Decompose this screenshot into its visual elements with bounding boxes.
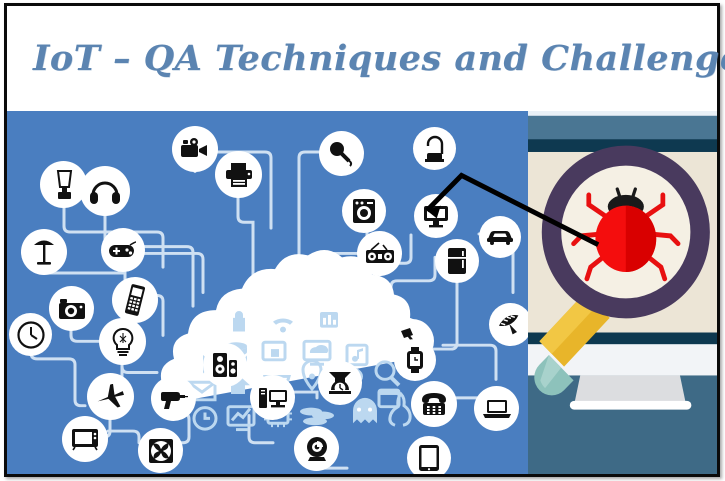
device-node-car[interactable] [479, 216, 521, 258]
device-node-webcam[interactable] [294, 426, 339, 471]
device-node-vacuum[interactable] [413, 127, 456, 170]
device-node-satellite[interactable] [489, 303, 528, 346]
iot-device-network [7, 111, 528, 474]
car-icon [486, 229, 514, 245]
boombox-radio-icon [365, 242, 395, 266]
vacuum-cleaner-icon [424, 135, 446, 163]
device-node-gamepad[interactable] [101, 228, 145, 272]
fan-icon [148, 438, 174, 464]
slide-frame: IoT – QA Techniques and Challenges [4, 3, 720, 477]
monitor-top-band [528, 116, 717, 139]
device-node-mobile[interactable] [112, 277, 158, 323]
floor-lamp-icon [32, 238, 56, 266]
slide-canvas: IoT – QA Techniques and Challenges [0, 0, 725, 481]
device-node-fridge[interactable] [435, 239, 479, 283]
device-node-smartwatch[interactable] [394, 339, 436, 381]
device-node-pc[interactable] [250, 375, 295, 420]
title-bar: IoT – QA Techniques and Challenges [7, 6, 717, 111]
device-node-video-camera[interactable] [172, 126, 218, 172]
printer-icon [225, 162, 253, 188]
monitor-stand-base [570, 401, 692, 410]
monitor-stand [575, 375, 686, 402]
bug-inspection-illustration [528, 111, 717, 474]
device-node-microphone[interactable] [319, 131, 364, 176]
webcam-icon [304, 436, 330, 462]
device-node-tablet[interactable] [407, 436, 451, 474]
device-node-speakers[interactable] [203, 343, 247, 387]
device-node-headphones[interactable] [80, 166, 130, 216]
pc-tower-icon [258, 386, 288, 410]
telephone-icon [419, 391, 449, 417]
smartwatch-icon [405, 346, 425, 374]
device-node-airplane[interactable] [87, 373, 134, 420]
desktop-monitor-icon [423, 204, 449, 228]
gamepad-icon [108, 241, 138, 259]
device-node-desktop[interactable] [414, 194, 458, 238]
refrigerator-icon [447, 247, 467, 275]
device-node-radio[interactable] [357, 231, 402, 276]
power-drill-icon [160, 387, 188, 411]
artwork-area [7, 111, 717, 474]
television-icon [71, 427, 99, 451]
wall-clock-icon [17, 321, 45, 349]
headphones-icon [89, 177, 121, 205]
device-node-telephone[interactable] [411, 381, 457, 427]
device-node-wall-clock[interactable] [9, 313, 52, 356]
airplane-icon [96, 384, 126, 410]
photo-camera-icon [58, 298, 86, 320]
speakers-icon [212, 352, 238, 378]
device-node-television[interactable] [62, 416, 108, 462]
device-node-drill[interactable] [151, 376, 196, 421]
page-title: IoT – QA Techniques and Challenges [33, 38, 725, 79]
device-node-printer[interactable] [215, 151, 262, 198]
device-node-floor-lamp[interactable] [21, 229, 67, 275]
microphone-icon [329, 141, 355, 167]
software-bug-ladybug [574, 189, 678, 279]
blender-icon [54, 170, 74, 200]
weighing-scale-icon [327, 370, 353, 396]
satellite-dish-icon [497, 312, 525, 338]
device-node-fan[interactable] [138, 428, 183, 473]
device-node-laptop[interactable] [474, 386, 519, 431]
device-node-camera[interactable] [49, 286, 94, 331]
video-camera-icon [180, 138, 210, 160]
laptop-icon [482, 398, 512, 420]
washing-machine-icon [352, 198, 376, 224]
tablet-device-icon [418, 444, 440, 472]
device-node-scale[interactable] [318, 361, 362, 405]
device-node-lightbulb[interactable] [99, 318, 146, 365]
monitor-graphic [528, 111, 717, 474]
mobile-phone-icon [125, 284, 145, 316]
lightbulb-icon [111, 327, 135, 357]
device-node-washer[interactable] [342, 189, 386, 233]
